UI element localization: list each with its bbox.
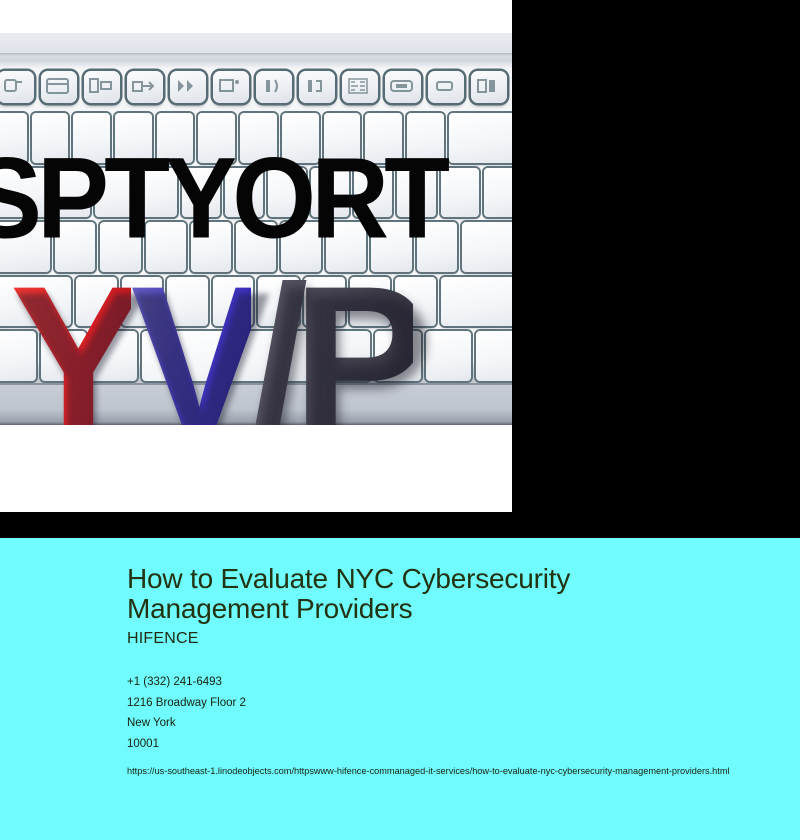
- volume-up-icon: [342, 71, 378, 103]
- function-key-row: [0, 71, 512, 105]
- eject-icon: [428, 71, 464, 103]
- contact-zip: 10001: [127, 734, 800, 754]
- hero-overlay-text-bottom: YV/P: [10, 255, 413, 425]
- source-url[interactable]: https://us-southeast-1.linodeobjects.com…: [127, 760, 800, 782]
- brightness-down-icon: [0, 71, 34, 103]
- window-icon: [41, 71, 77, 103]
- mission-control-icon: [84, 71, 120, 103]
- rewind-icon: [170, 71, 206, 103]
- hero-letter-v: V: [131, 243, 252, 425]
- display-icon: [385, 71, 421, 103]
- brand-name: HIFENCE: [127, 630, 800, 648]
- contact-city: New York: [127, 713, 800, 733]
- document-info-panel: How to Evaluate NYC Cybersecurity Manage…: [0, 538, 800, 840]
- play-pause-icon: [213, 71, 249, 103]
- contact-phone: +1 (332) 241-6493: [127, 672, 800, 692]
- volume-down-icon: [299, 71, 335, 103]
- volume-mute-icon: [256, 71, 292, 103]
- document-info-inner: How to Evaluate NYC Cybersecurity Manage…: [0, 538, 800, 782]
- keyboard-photo: SPTYORT YV/P: [0, 33, 512, 425]
- contact-street: 1216 Broadway Floor 2: [127, 693, 800, 713]
- page-title: How to Evaluate NYC Cybersecurity Manage…: [127, 564, 687, 624]
- battery-icon: [471, 71, 507, 103]
- key: [476, 331, 512, 381]
- hero-letter-p: /P: [251, 243, 413, 425]
- hero-letter-y: Y: [10, 243, 131, 425]
- keyboard-bezel: [0, 53, 512, 56]
- contact-block: +1 (332) 241-6493 1216 Broadway Floor 2 …: [127, 672, 800, 754]
- key: [441, 277, 512, 327]
- hero-overlay-text-top: SPTYORT: [0, 140, 512, 256]
- keyboard-light-icon: [127, 71, 163, 103]
- hero-image-container: SPTYORT YV/P: [0, 0, 512, 512]
- key: [426, 331, 472, 381]
